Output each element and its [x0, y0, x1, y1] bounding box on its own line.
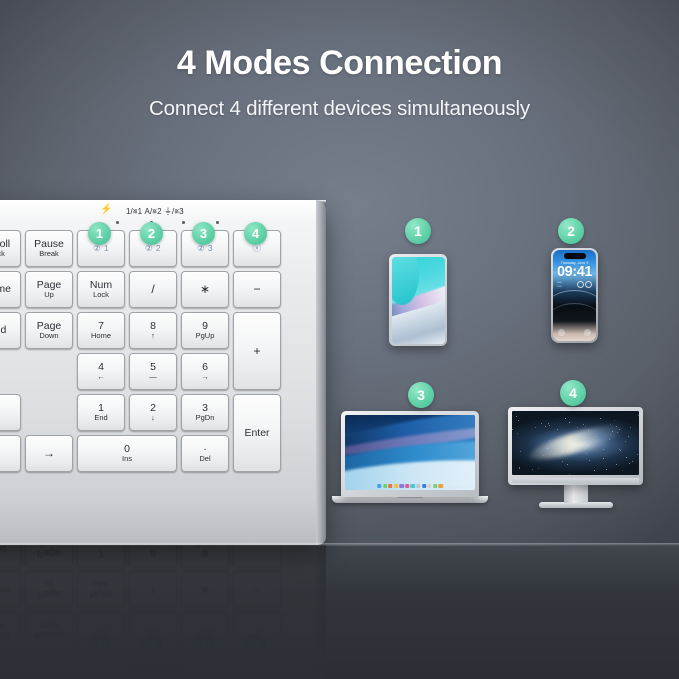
device-badge-4: 4 [560, 380, 586, 406]
star [594, 470, 595, 471]
key-secondary-label: ← [97, 373, 105, 382]
keyboard-badge-3: 3 [192, 222, 215, 245]
star [600, 418, 601, 419]
key-page-down[interactable]: PageDown [25, 312, 73, 349]
star [517, 433, 518, 434]
key-secondary-label: → [201, 373, 209, 382]
key-primary-label: Enter [244, 427, 269, 439]
key-scroll-lock[interactable]: ScrollLock [0, 230, 21, 267]
key-bluetooth-label: ⓧ [253, 243, 262, 253]
phone-lockscreen-shortcuts [558, 329, 591, 336]
phone-screen: Thursday, June 9 09:41 •••••••••• [553, 250, 596, 341]
key-numpad-1[interactable]: 1End [77, 394, 125, 431]
star [535, 427, 536, 428]
star [548, 423, 549, 424]
tablet-device [389, 254, 447, 346]
dock-icon [422, 484, 426, 488]
key-secondary-label: Lock [0, 250, 5, 259]
key-arrow-right[interactable]: → [25, 435, 73, 472]
key-numpad-9[interactable]: 9PgUp [181, 312, 229, 349]
key-numpad-8[interactable]: 8↑ [129, 312, 177, 349]
star [565, 418, 566, 419]
key-secondary-label: End [94, 414, 107, 423]
star [541, 423, 542, 424]
star [614, 420, 615, 421]
key-page-up[interactable]: PageUp [25, 271, 73, 308]
key-pause-break[interactable]: PauseBreak [25, 230, 73, 267]
star [616, 464, 617, 465]
star [585, 426, 586, 427]
key-numpad-6[interactable]: 6→ [181, 353, 229, 390]
key-numpad-4[interactable]: 4← [77, 353, 125, 390]
key-secondary-label: Break [39, 250, 59, 259]
page-subtitle: Connect 4 different devices simultaneous… [0, 97, 679, 121]
tablet-wallpaper-swirl [392, 257, 420, 306]
key-primary-label: End [0, 324, 6, 336]
key-divide[interactable]: / [129, 271, 177, 308]
star [520, 451, 521, 452]
laptop-screen [345, 415, 475, 490]
tablet-screen [392, 257, 445, 344]
dock-icon [433, 484, 437, 488]
key-secondary-label: Lock [93, 291, 109, 300]
device-badge-3: 3 [408, 382, 434, 408]
heading-block: 4 Modes Connection Connect 4 different d… [0, 44, 679, 121]
star [519, 467, 520, 468]
star [583, 424, 584, 425]
key-arrow-up[interactable]: ↑ [0, 394, 21, 431]
star [557, 429, 558, 430]
phone-widgets: •••••••••• [557, 281, 592, 289]
key-secondary-label: — [149, 373, 157, 382]
star [577, 427, 578, 428]
dock-icon [405, 484, 409, 488]
laptop-dock [377, 484, 443, 488]
key-numpad-2[interactable]: 2↓ [129, 394, 177, 431]
star [625, 441, 626, 442]
keyboard-badge-2: 2 [140, 222, 163, 245]
key-enter[interactable]: Enter [233, 394, 281, 472]
dock-icon [394, 484, 398, 488]
star [519, 468, 520, 469]
star [630, 427, 631, 428]
keyboard-badge-1: 1 [88, 222, 111, 245]
star [603, 449, 604, 450]
keyboard-top-lip [0, 200, 326, 203]
device-badge-2: 2 [558, 218, 584, 244]
monitor-neck [564, 484, 588, 503]
key-numpad-3[interactable]: 3PgDn [181, 394, 229, 431]
star [603, 458, 604, 459]
star [569, 422, 570, 423]
laptop-lid [341, 411, 479, 497]
wireless-keyboard: ⚡ 1/␧1 A/␧2 ⏚/␧3 ScrollLockPauseBreak② 1… [0, 200, 326, 545]
key-glyph: → [43, 446, 55, 460]
monitor-screen [512, 411, 639, 475]
dock-icon [439, 484, 443, 488]
key-secondary-label: PgDn [196, 414, 215, 423]
indicator-labels: 1/␧1 A/␧2 ⏚/␧3 [126, 206, 276, 217]
phone-ring-widget-1 [577, 281, 584, 288]
key-end[interactable]: End [0, 312, 21, 349]
star [545, 426, 546, 427]
star [518, 420, 519, 421]
star [626, 457, 627, 458]
dock-icon [416, 484, 420, 488]
key-minus[interactable]: − [233, 271, 281, 308]
key-arrow-down[interactable]: ↓ [0, 435, 21, 472]
star [589, 460, 590, 461]
star [549, 425, 550, 426]
star [516, 416, 517, 417]
dynamic-island [564, 253, 586, 259]
key-secondary-label: ↓ [151, 414, 155, 423]
keyboard-badge-4: 4 [244, 222, 267, 245]
phone-ring-widget-2 [585, 281, 592, 288]
key-secondary-label: Ins [122, 455, 132, 464]
star [532, 469, 533, 470]
monitor-bezel [508, 407, 643, 485]
key-secondary-label: Down [39, 332, 58, 341]
indicator-strip: ⚡ 1/␧1 A/␧2 ⏚/␧3 [88, 204, 238, 226]
star [637, 454, 638, 455]
key-numpad-7[interactable]: 7Home [77, 312, 125, 349]
device-badge-1: 1 [405, 218, 431, 244]
key-numpad-5[interactable]: 5— [129, 353, 177, 390]
star [628, 436, 629, 437]
laptop-base [332, 496, 488, 503]
desktop-monitor-device [508, 407, 643, 512]
star [569, 474, 570, 475]
key-numpad-decimal[interactable]: ·Del [181, 435, 229, 472]
star [562, 461, 563, 462]
product-feature-banner: 4 Modes Connection Connect 4 different d… [0, 0, 679, 679]
smartphone-device: Thursday, June 9 09:41 •••••••••• [551, 248, 598, 343]
dock-icon [388, 484, 392, 488]
key-secondary-label: ↑ [151, 332, 155, 341]
key-home[interactable]: Home [0, 271, 21, 308]
star [632, 461, 633, 462]
keyboard-reflection: ⚡ 1/␧1 A/␧2 ⏚/␧3 ScrollLockPauseBreak② 1… [0, 545, 326, 679]
dock-icon [377, 484, 381, 488]
key-numpad-0[interactable]: 0Ins [77, 435, 177, 472]
charging-bolt-icon: ⚡ [100, 205, 112, 215]
led-indicator-power [116, 221, 119, 224]
key-secondary-label: Del [199, 455, 210, 464]
page-title: 4 Modes Connection [0, 44, 679, 83]
key-secondary-label: PgUp [196, 332, 215, 341]
star [538, 468, 539, 469]
key-secondary-label: Up [44, 291, 54, 300]
key-glyph: / [151, 282, 154, 296]
camera-icon [584, 329, 591, 336]
star [586, 453, 587, 454]
led-indicator-3 [216, 221, 219, 224]
key-bluetooth-label: ② 1 [93, 243, 109, 253]
key-plus[interactable]: + [233, 312, 281, 390]
star [606, 469, 607, 470]
keyboard-right-edge [316, 200, 326, 545]
key-glyph: − [253, 282, 260, 296]
key-bluetooth-label: ② 3 [197, 243, 213, 253]
led-indicator-2 [182, 221, 185, 224]
dock-icon [427, 484, 431, 488]
flashlight-icon [558, 329, 565, 336]
dock-icon [411, 484, 415, 488]
dock-icon [400, 484, 404, 488]
key-glyph: ∗ [200, 282, 210, 296]
star [512, 429, 513, 430]
star [622, 470, 623, 471]
key-multiply[interactable]: ∗ [181, 271, 229, 308]
phone-lockscreen-time: 09:41 [553, 265, 596, 280]
star [567, 464, 568, 465]
phone-weather-widget: •••••••••• [557, 281, 562, 289]
monitor-chin [512, 478, 639, 483]
star [629, 463, 630, 464]
key-secondary-label: Home [91, 332, 111, 341]
dock-icon [383, 484, 387, 488]
laptop-device [332, 411, 488, 509]
key-glyph: + [253, 344, 260, 358]
key-primary-label: Home [0, 283, 11, 295]
floor-highlight-line [0, 543, 679, 546]
star [638, 415, 639, 416]
star [620, 450, 621, 451]
key-num-lock[interactable]: NumLock [77, 271, 125, 308]
key-bluetooth-label: ② 2 [145, 243, 161, 253]
